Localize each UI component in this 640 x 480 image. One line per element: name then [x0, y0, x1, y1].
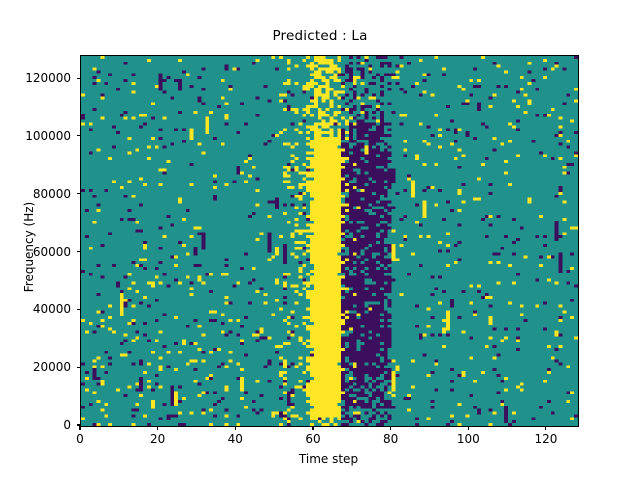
y-axis-tick-mark [77, 309, 81, 310]
x-axis-tick-label: 60 [305, 432, 320, 446]
y-axis-tick-label: 120000 [0, 71, 71, 85]
y-axis-tick-label: 0 [0, 418, 71, 432]
y-axis-tick-label: 40000 [0, 302, 71, 316]
y-axis-tick-mark [77, 367, 81, 368]
page-title: Predicted : La [0, 28, 640, 44]
x-axis-tick-mark [545, 426, 546, 430]
x-axis-tick-mark [390, 426, 391, 430]
x-axis-tick-mark [157, 426, 158, 430]
x-axis-tick-mark [235, 426, 236, 430]
x-axis-label: Time step [80, 452, 577, 466]
x-axis-tick-label: 20 [150, 432, 165, 446]
y-axis-tick-mark [77, 193, 81, 194]
x-axis-tick-label: 80 [383, 432, 398, 446]
figure-canvas: Predicted : La Frequency (Hz) Time step … [0, 0, 640, 480]
y-axis-tick-label: 100000 [0, 129, 71, 143]
x-axis-tick-mark [468, 426, 469, 430]
heatmap-plot-area[interactable] [80, 55, 579, 427]
x-axis-tick-label: 40 [228, 432, 243, 446]
y-axis-tick-label: 20000 [0, 360, 71, 374]
x-axis-tick-label: 120 [534, 432, 557, 446]
x-axis-tick-mark [79, 426, 80, 430]
y-axis-tick-mark [77, 78, 81, 79]
x-axis-tick-label: 100 [457, 432, 480, 446]
y-axis-tick-label: 80000 [0, 187, 71, 201]
x-axis-tick-label: 0 [76, 432, 84, 446]
x-axis-tick-mark [312, 426, 313, 430]
y-axis-tick-mark [77, 135, 81, 136]
heatmap-image [81, 56, 578, 426]
y-axis-tick-label: 60000 [0, 245, 71, 259]
y-axis-tick-mark [77, 251, 81, 252]
